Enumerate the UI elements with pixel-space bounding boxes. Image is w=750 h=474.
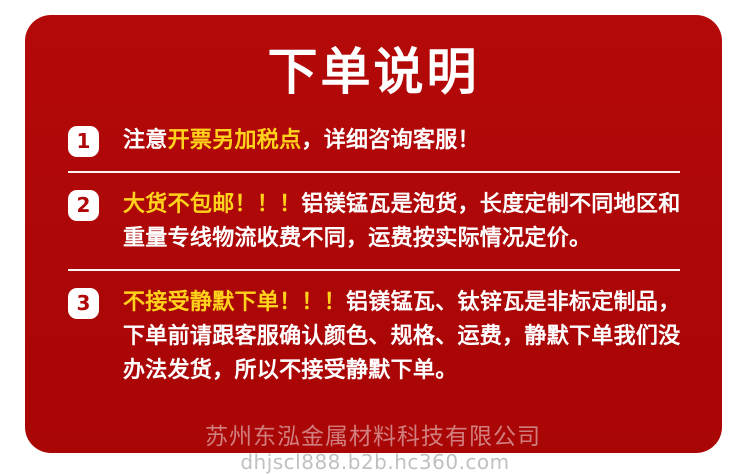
note-number-badge: 1 [68,126,99,157]
list-item: 1 注意开票另加税点，详细咨询客服！ [68,123,683,157]
note-segment: 注意 [123,127,168,152]
divider [68,171,680,173]
note-text: 不接受静默下单！！！铝镁锰瓦、钛锌瓦是非标定制品，下单前请跟客服确认颜色、规格、… [123,285,683,387]
watermark-url: dhjscl888.b2b.hc360.com [0,450,750,474]
page-root: 下单说明 1 注意开票另加税点，详细咨询客服！ 2 大货不包邮！！！铝镁锰瓦是泡… [0,0,750,474]
note-number-badge: 2 [68,190,99,221]
divider [68,269,680,271]
notes-list: 1 注意开票另加税点，详细咨询客服！ 2 大货不包邮！！！铝镁锰瓦是泡货，长度定… [68,123,683,387]
note-text: 注意开票另加税点，详细咨询客服！ [123,123,683,157]
list-item: 3 不接受静默下单！！！铝镁锰瓦、钛锌瓦是非标定制品，下单前请跟客服确认颜色、规… [68,285,683,387]
note-segment-highlight: 不接受静默下单！！！ [123,289,346,314]
note-number-badge: 3 [68,288,99,319]
note-text: 大货不包邮！！！铝镁锰瓦是泡货，长度定制不同地区和重量专线物流收费不同，运费按实… [123,187,683,255]
notice-panel: 下单说明 1 注意开票另加税点，详细咨询客服！ 2 大货不包邮！！！铝镁锰瓦是泡… [25,15,722,453]
note-segment: ，详细咨询客服！ [301,127,479,152]
note-segment-highlight: 开票另加税点 [168,127,302,152]
page-title: 下单说明 [25,43,722,101]
note-segment-highlight: 大货不包邮！！！ [123,191,301,216]
list-item: 2 大货不包邮！！！铝镁锰瓦是泡货，长度定制不同地区和重量专线物流收费不同，运费… [68,187,683,255]
